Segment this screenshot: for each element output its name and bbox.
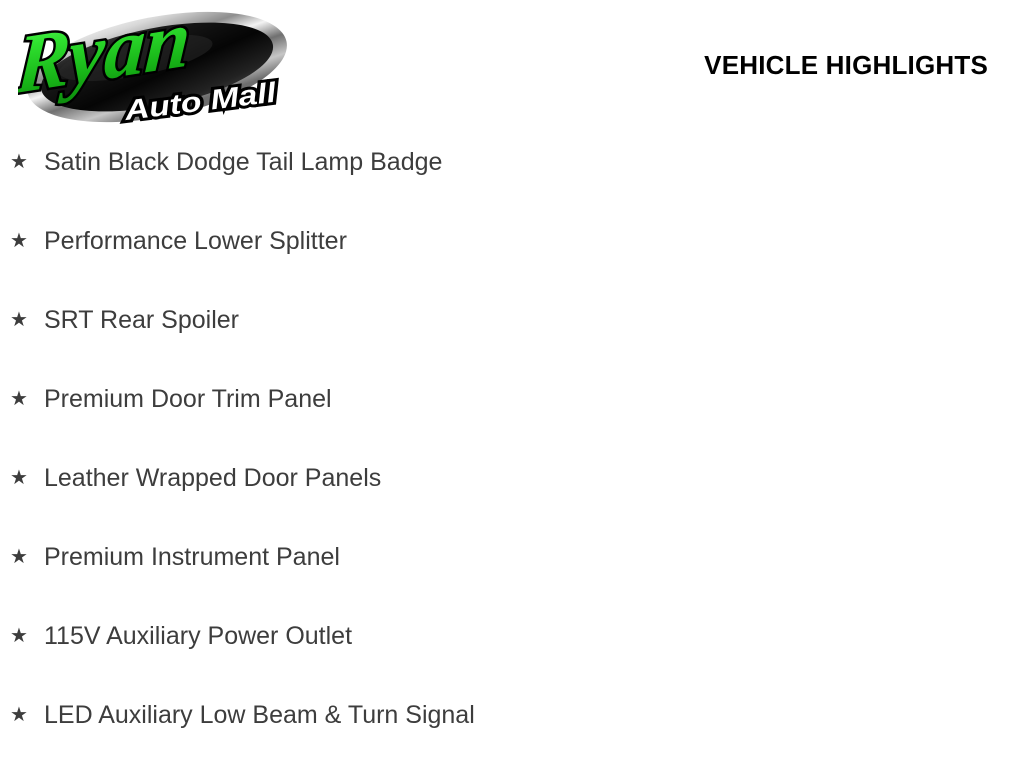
list-item: ★ Performance Lower Splitter	[0, 225, 1024, 304]
list-item-label: LED Auxiliary Low Beam & Turn Signal	[44, 699, 475, 731]
list-item-label: Satin Black Dodge Tail Lamp Badge	[44, 146, 442, 178]
star-icon: ★	[10, 304, 44, 336]
list-item-label: SRT Rear Spoiler	[44, 304, 239, 336]
list-item: ★ Leather Wrapped Door Panels	[0, 462, 1024, 541]
page-header: Ryan Auto Mall VEHICLE HIGHLIGHTS	[0, 0, 1024, 136]
logo-graphic: Ryan Auto Mall	[18, 4, 296, 130]
star-icon: ★	[10, 462, 44, 494]
star-icon: ★	[10, 225, 44, 257]
list-item-label: 115V Auxiliary Power Outlet	[44, 620, 352, 652]
list-item: ★ Premium Instrument Panel	[0, 541, 1024, 620]
list-item-label: Leather Wrapped Door Panels	[44, 462, 381, 494]
ryan-auto-mall-logo[interactable]: Ryan Auto Mall	[18, 4, 296, 130]
list-item: ★ Premium Door Trim Panel	[0, 383, 1024, 462]
list-item-label: Premium Instrument Panel	[44, 541, 340, 573]
star-icon: ★	[10, 541, 44, 573]
list-item: ★ Satin Black Dodge Tail Lamp Badge	[0, 146, 1024, 225]
list-item: ★ LED Auxiliary Low Beam & Turn Signal	[0, 699, 1024, 778]
list-item-label: Premium Door Trim Panel	[44, 383, 332, 415]
star-icon: ★	[10, 699, 44, 731]
list-item-label: Performance Lower Splitter	[44, 225, 347, 257]
star-icon: ★	[10, 146, 44, 178]
star-icon: ★	[10, 383, 44, 415]
star-icon: ★	[10, 620, 44, 652]
page-title: VEHICLE HIGHLIGHTS	[704, 50, 988, 80]
list-item: ★ 115V Auxiliary Power Outlet	[0, 620, 1024, 699]
vehicle-highlights-list: ★ Satin Black Dodge Tail Lamp Badge ★ Pe…	[0, 146, 1024, 778]
list-item: ★ SRT Rear Spoiler	[0, 304, 1024, 383]
